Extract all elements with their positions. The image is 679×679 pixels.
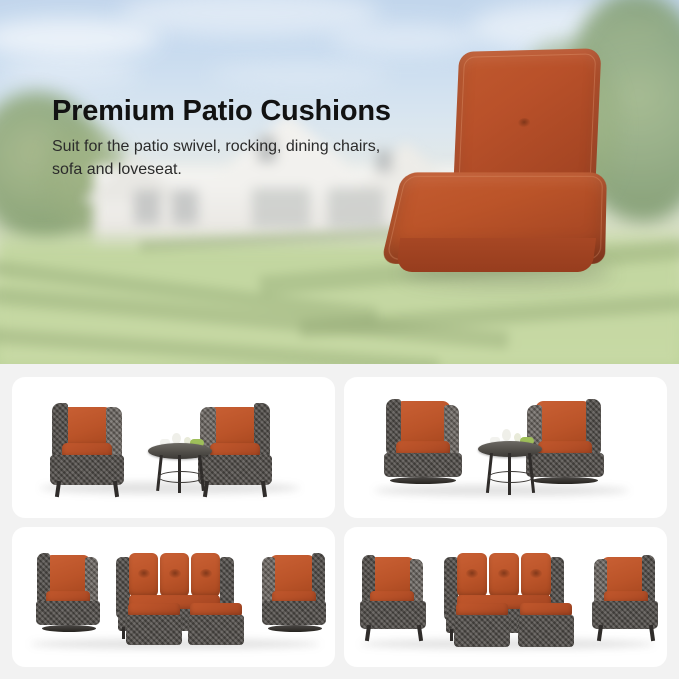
tuft-button-icon bbox=[518, 118, 530, 127]
product-image-page: Premium Patio Cushions Suit for the pati… bbox=[0, 0, 679, 679]
gallery-panel-conversation-set-armchairs[interactable] bbox=[344, 527, 667, 668]
cloud-icon bbox=[210, 62, 390, 86]
gallery-grid bbox=[0, 364, 679, 679]
gallery-panel-bistro-armchairs[interactable] bbox=[12, 377, 335, 518]
cloud-icon bbox=[0, 60, 140, 86]
cushion-seat-front-face bbox=[396, 238, 596, 272]
hero-subtitle: Suit for the patio swivel, rocking, dini… bbox=[52, 136, 382, 181]
gallery-panel-conversation-set-swivel[interactable] bbox=[12, 527, 335, 668]
hero-banner: Premium Patio Cushions Suit for the pati… bbox=[0, 0, 679, 364]
scene-conversation-set-swivel bbox=[12, 527, 335, 668]
scene-swivel-rockers bbox=[344, 377, 667, 518]
hero-cushion-product bbox=[384, 42, 634, 292]
gallery-panel-swivel-rockers[interactable] bbox=[344, 377, 667, 518]
scene-conversation-set-armchairs bbox=[344, 527, 667, 668]
hero-subtitle-line-1: Suit for the patio swivel, rocking, dini… bbox=[52, 138, 329, 155]
scene-bistro-armchairs bbox=[12, 377, 335, 518]
